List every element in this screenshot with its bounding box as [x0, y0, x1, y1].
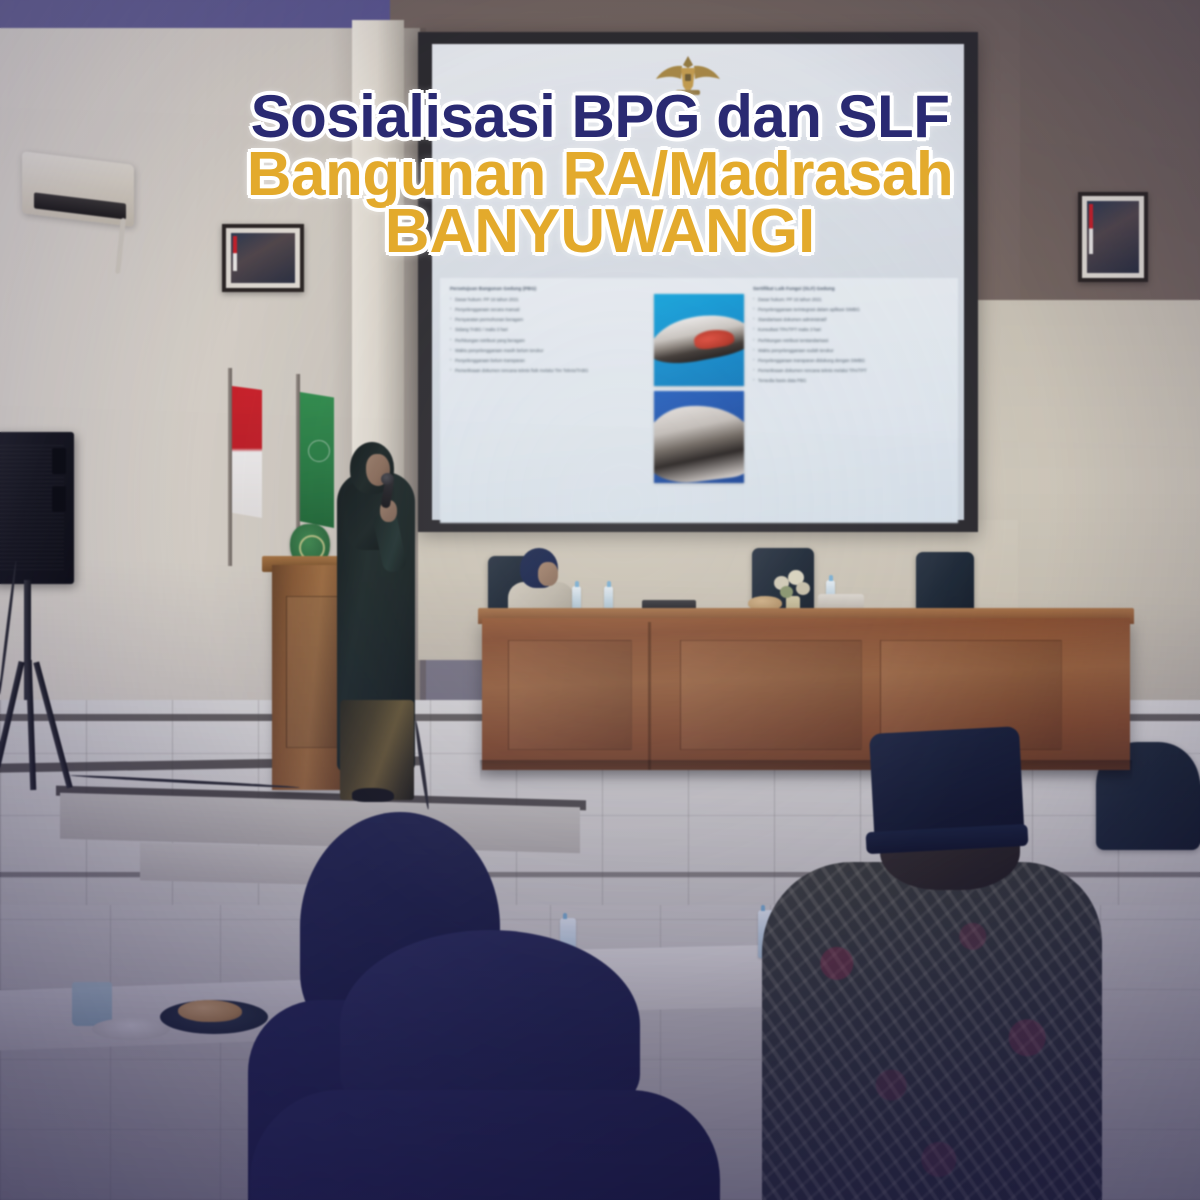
- flag-indonesia: [232, 386, 262, 518]
- saucer-plate: [92, 1018, 170, 1040]
- slide-image-group: [651, 286, 747, 515]
- audience-batik-shirt: [762, 862, 1102, 1200]
- slide-left-bullet: Pemeriksaan dokumen rencana teknis fisik…: [450, 367, 645, 374]
- slide-right-bullet: Konsultasi TPA/TPT maks 3 hari: [753, 326, 948, 333]
- slide-right-bullet: Waktu penyelenggaraan sudah terukur: [753, 347, 948, 354]
- slide-column-left: Persetujuan Bangunan Gedung (PBG) Dasar …: [450, 286, 645, 515]
- portrait-frame-right: [1078, 192, 1148, 282]
- head-table-shadow: [480, 760, 1132, 782]
- slide-right-bullet: Tersedia basis data PBG: [753, 377, 948, 384]
- slide-right-bullet: Dasar hukum: PP 16 tahun 2021: [753, 296, 948, 303]
- slide-right-bullet: Penyelenggaraan transparan didukung deng…: [753, 357, 948, 364]
- slide-left-bullet: Sidang TABG / maks 3 hari: [450, 326, 645, 333]
- slide-right-bullet: Penyelenggaraan terintegrasi dalam aplik…: [753, 306, 948, 313]
- slide-left-bullet: Waktu penyelenggaraan masih belum teruku…: [450, 347, 645, 354]
- slide-image-roof-1: [654, 294, 744, 386]
- flagpole-indonesia: [228, 368, 232, 566]
- slide-right-bullet: Standarisasi dokumen administratif: [753, 316, 948, 323]
- speaker-shoes: [352, 788, 394, 802]
- portrait-flag-stripe-right: [1089, 204, 1093, 254]
- pa-speaker-port: [52, 448, 66, 474]
- slide-image-roof-2: [654, 391, 744, 483]
- pa-speaker-port: [52, 486, 66, 512]
- meeting-hall-room: Persetujuan Bangunan Gedung (PBG) Dasar …: [0, 0, 1200, 1200]
- portrait-mat-left: [226, 228, 300, 288]
- flower-leaf: [780, 586, 793, 598]
- head-table-seam: [648, 622, 651, 770]
- slide-right-bullet: Pemeriksaan dokumen rencana teknis melal…: [753, 367, 948, 374]
- microphone-head: [381, 473, 394, 485]
- speaker-batik-skirt: [340, 700, 414, 800]
- head-table-panel: [508, 640, 632, 750]
- flower-petal: [796, 582, 810, 595]
- flag-green-emblem: [308, 440, 330, 462]
- portrait-flag-stripe-left: [233, 236, 237, 271]
- head-table-panel: [680, 640, 862, 750]
- slide-right-heading: Sertifikat Laik Fungsi (SLF) Gedung: [753, 286, 948, 291]
- slide-left-bullet: Persyaratan permohonan beragam: [450, 316, 645, 323]
- portrait-mat-right: [1082, 196, 1144, 278]
- slide-left-bullet: Penyelenggaraan belum transparan: [450, 357, 645, 364]
- slide-left-heading: Persetujuan Bangunan Gedung (PBG): [450, 286, 645, 291]
- roof-shape-icon: [654, 398, 744, 483]
- slide-left-bullet: Penyelenggaraan secara manual: [450, 306, 645, 313]
- audience-silhouette-body: [250, 1090, 720, 1200]
- slide-content: Persetujuan Bangunan Gedung (PBG) Dasar …: [440, 278, 958, 523]
- portrait-frame-left: [222, 224, 304, 292]
- snack-food: [178, 1000, 242, 1022]
- portrait-image-left: [231, 233, 295, 283]
- photo-scene: Persetujuan Bangunan Gedung (PBG) Dasar …: [0, 0, 1200, 1200]
- portrait-image-right: [1087, 201, 1139, 273]
- podium-front-panel: [286, 596, 344, 748]
- slide-column-right: Sertifikat Laik Fungsi (SLF) Gedung Dasa…: [753, 286, 948, 515]
- garuda-pancasila-icon: [652, 52, 724, 100]
- seated-official-face: [538, 562, 558, 586]
- slide-right-bullet: Perhitungan retribusi terstandarisasi: [753, 337, 948, 344]
- flower-arrangement: [770, 570, 812, 610]
- slide-left-bullet: Perhitungan retribusi yang beragam: [450, 337, 645, 344]
- slide-left-bullet: Dasar hukum: PP 16 tahun 2021: [450, 296, 645, 303]
